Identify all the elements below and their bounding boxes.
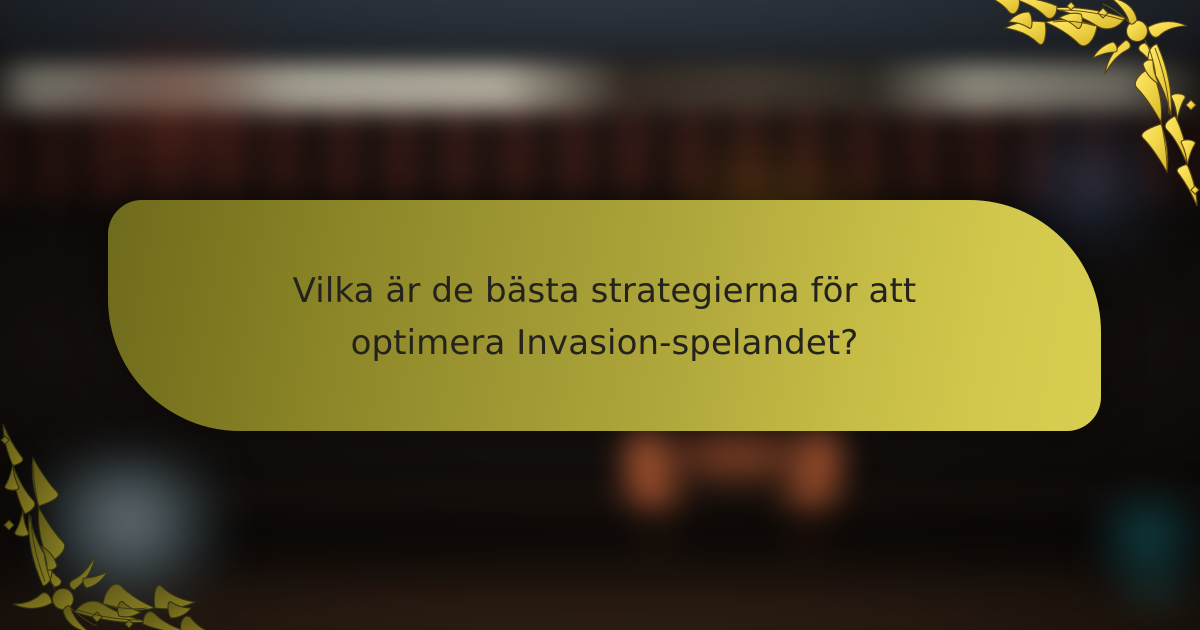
question-card-graphic: Vilka är de bästa strategierna för att o… — [0, 0, 1200, 630]
question-text: Vilka är de bästa strategierna för att o… — [245, 262, 965, 369]
question-card: Vilka är de bästa strategierna för att o… — [108, 200, 1101, 431]
